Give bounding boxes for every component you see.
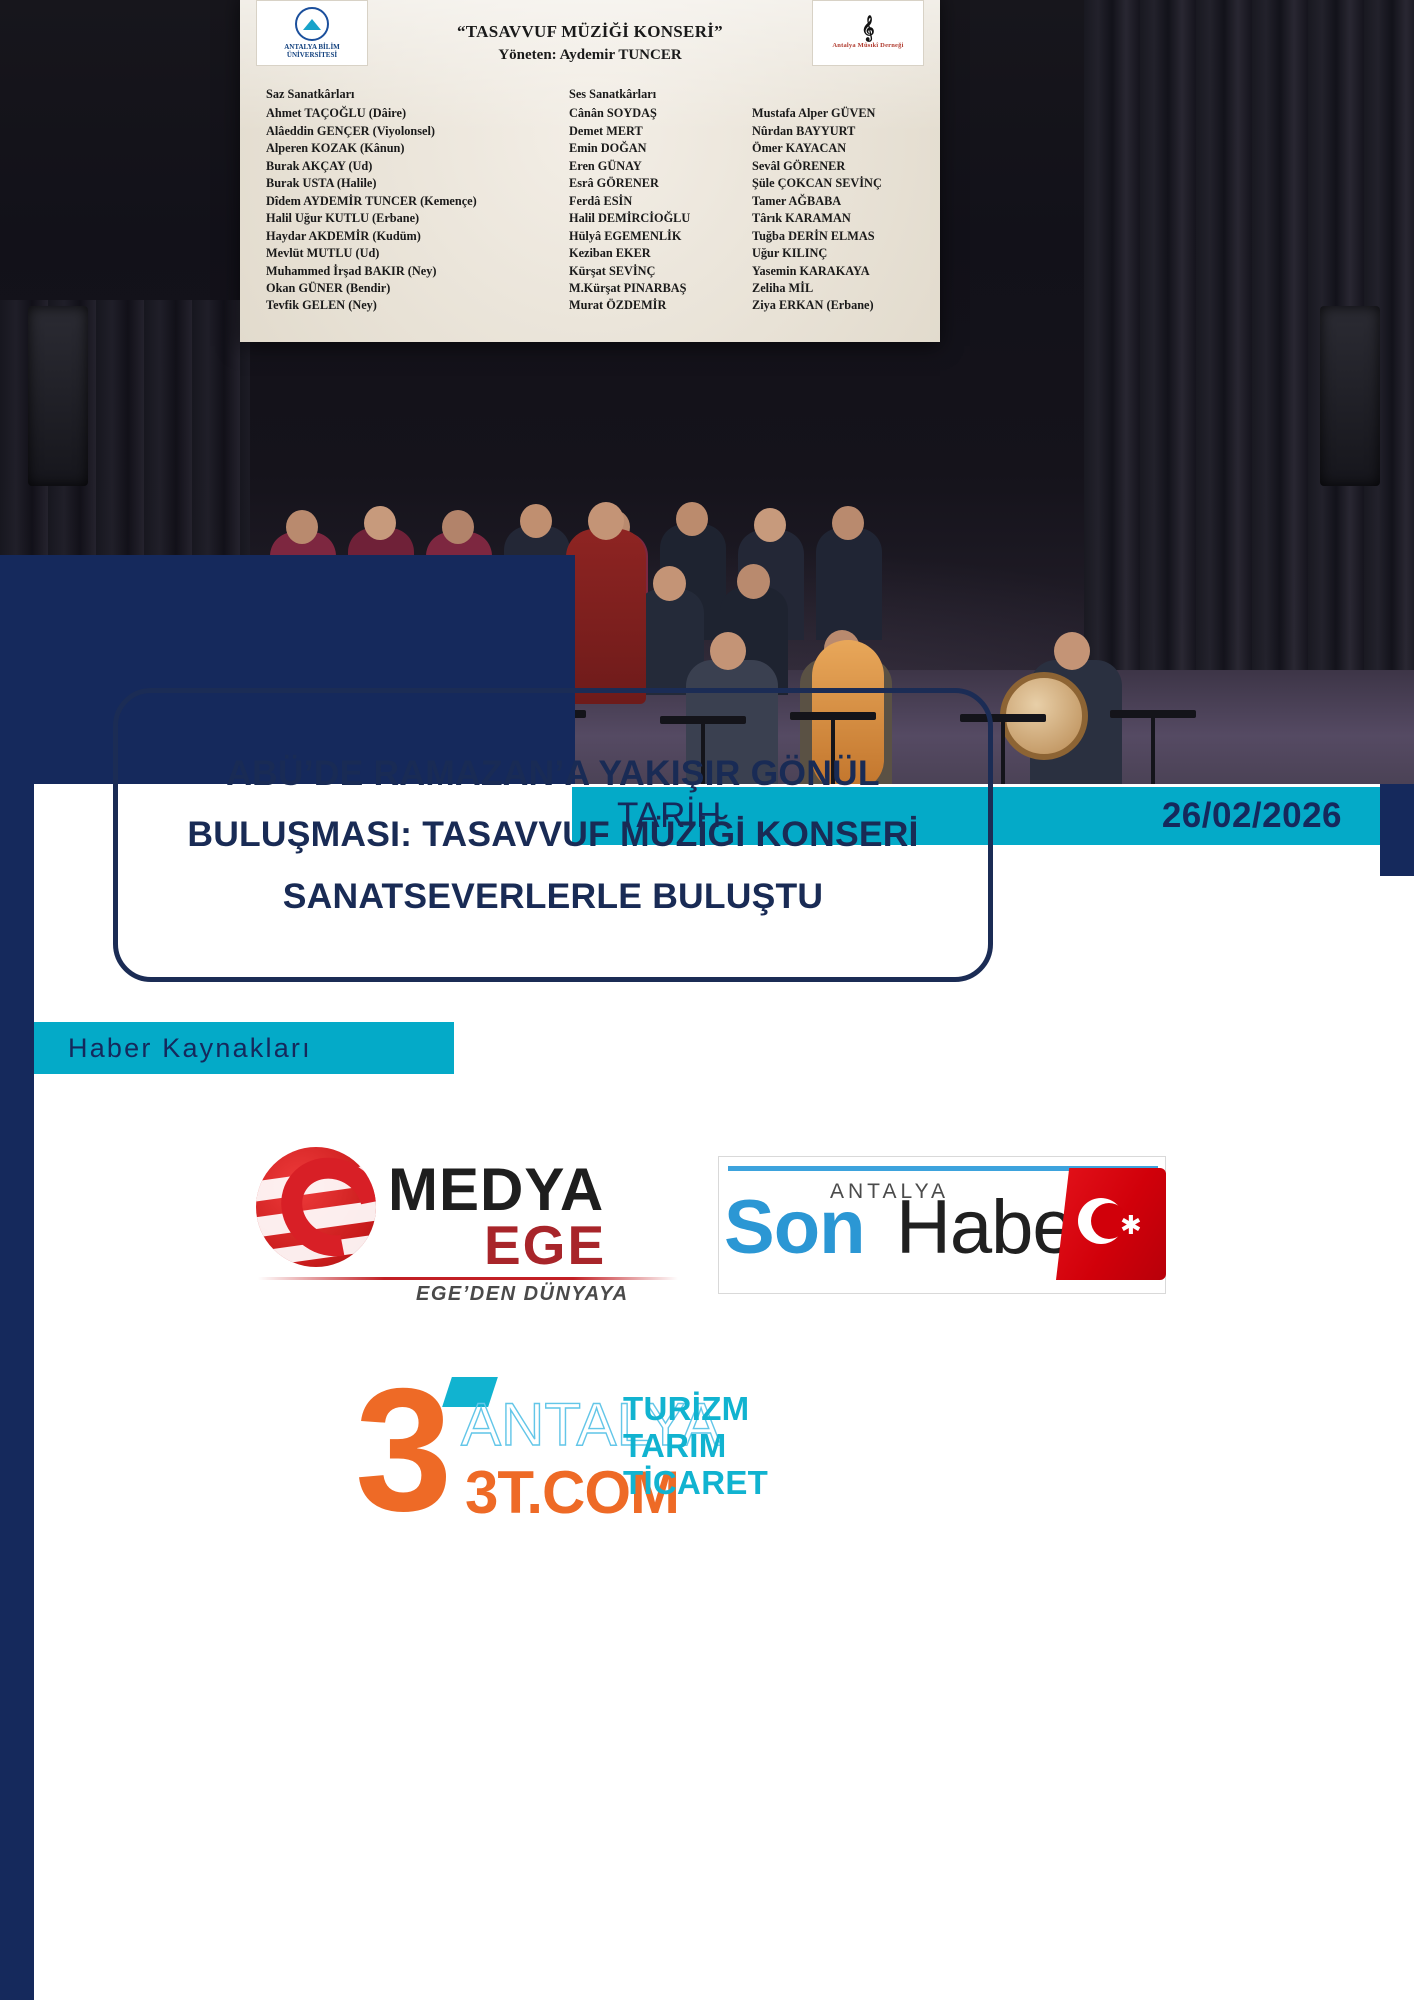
musiki-dernegi-label: Antalya Mûsıkî Derneği bbox=[832, 42, 903, 49]
logo-medya-ege[interactable]: MEDYA EGE EGE’DEN DÜNYAYA bbox=[248, 1133, 678, 1308]
logo-antalya-son-haber[interactable]: ANTALYA Son Haber ✱ bbox=[718, 1146, 1166, 1294]
performer-name: Dîdem AYDEMİR TUNCER (Kemençe) bbox=[266, 193, 551, 210]
three-t-keyword-2: TARIM bbox=[623, 1428, 768, 1465]
musiki-dernegi-logo: 𝄞 Antalya Mûsıkî Derneği bbox=[812, 0, 924, 66]
performer-name: Ferdâ ESİN bbox=[569, 193, 734, 210]
performer-name: Burak USTA (Halile) bbox=[266, 175, 551, 192]
conductor-head bbox=[588, 502, 624, 540]
headline-box: ABÜ’DE RAMAZAN’A YAKIŞIR GÖNÜL BULUŞMASI… bbox=[113, 688, 993, 982]
col1-header: Saz Sanatkârları bbox=[266, 86, 551, 103]
navy-right-edge bbox=[1380, 784, 1414, 876]
musician-head bbox=[710, 632, 746, 670]
date-value: 26/02/2026 bbox=[1162, 796, 1342, 836]
performer-name: Keziban EKER bbox=[569, 245, 734, 262]
conductor bbox=[566, 529, 646, 704]
abu-logo: ANTALYA BİLİM ÜNİVERSİTESİ bbox=[256, 0, 368, 66]
three-t-keywords: TURİZM TARIM TİCARET bbox=[623, 1391, 768, 1502]
performer-name: Uğur KILINÇ bbox=[752, 245, 932, 262]
performer-name: Alâeddin GENÇER (Viyolonsel) bbox=[266, 123, 551, 140]
performer-name: Târık KARAMAN bbox=[752, 210, 932, 227]
performer-name: Esrâ GÖRENER bbox=[569, 175, 734, 192]
music-stand bbox=[1110, 710, 1196, 718]
performer-name: Demet MERT bbox=[569, 123, 734, 140]
mountain-icon bbox=[295, 7, 329, 41]
sources-bar-label: Haber Kaynakları bbox=[68, 1033, 312, 1064]
performer-name: Nûrdan BAYYURT bbox=[752, 123, 932, 140]
performer-name: Mustafa Alper GÜVEN bbox=[752, 105, 932, 122]
headline-line-2: BULUŞMASI: TASAVVUF MÜZİĞİ KONSERİ bbox=[187, 817, 918, 853]
turkish-flag-icon: ✱ bbox=[1056, 1168, 1166, 1280]
performer-name: Cânân SOYDAŞ bbox=[569, 105, 734, 122]
abu-logo-line1: ANTALYA BİLİM bbox=[284, 43, 340, 51]
performer-name: Ömer KAYACAN bbox=[752, 140, 932, 157]
three-numeral: 3 bbox=[355, 1363, 452, 1538]
performer-name: Sevâl GÖRENER bbox=[752, 158, 932, 175]
navy-left-rail bbox=[0, 784, 34, 2000]
medya-ege-tagline: EGE’DEN DÜNYAYA bbox=[416, 1283, 629, 1306]
col2-header: Ses Sanatkârları bbox=[569, 86, 734, 103]
performer-name: Halil DEMİRCİOĞLU bbox=[569, 210, 734, 227]
medya-ege-word-sub: EGE bbox=[484, 1213, 606, 1277]
medya-ege-divider bbox=[258, 1277, 678, 1280]
performer-name: Alperen KOZAK (Kânun) bbox=[266, 140, 551, 157]
performer-name: Tuğba DERİN ELMAS bbox=[752, 228, 932, 245]
logo-antalya-3t[interactable]: 3 ANTALYA 3T.COM TURİZM TARIM TİCARET bbox=[355, 1355, 775, 1555]
performer-name: Ahmet TAÇOĞLU (Dâire) bbox=[266, 105, 551, 122]
three-t-keyword-1: TURİZM bbox=[623, 1391, 768, 1428]
performer-name: Hülyâ EGEMENLİK bbox=[569, 228, 734, 245]
globe-icon bbox=[256, 1147, 376, 1267]
son-haber-word-blue: Son bbox=[724, 1190, 865, 1266]
abu-logo-line2: ÜNİVERSİTESİ bbox=[287, 51, 337, 59]
three-t-keyword-3: TİCARET bbox=[623, 1465, 768, 1502]
performer-name: Mevlüt MUTLU (Ud) bbox=[266, 245, 551, 262]
performer-name: Burak AKÇAY (Ud) bbox=[266, 158, 551, 175]
musician-head bbox=[1054, 632, 1090, 670]
headline-line-3: SANATSEVERLERLE BULUŞTU bbox=[283, 879, 823, 915]
sources-bar: Haber Kaynakları bbox=[34, 1022, 454, 1074]
music-note-icon: 𝄞 bbox=[861, 17, 874, 39]
news-clipping-page: ANTALYA BİLİM ÜNİVERSİTESİ 𝄞 Antalya Mûs… bbox=[0, 0, 1414, 2000]
performer-name: Eren GÜNAY bbox=[569, 158, 734, 175]
headline-line-1: ABÜ’DE RAMAZAN’A YAKIŞIR GÖNÜL bbox=[226, 756, 880, 792]
performer-name: Haydar AKDEMİR (Kudüm) bbox=[266, 228, 551, 245]
performer-name: Şüle ÇOKCAN SEVİNÇ bbox=[752, 175, 932, 192]
performer-name: Halil Uğur KUTLU (Erbane) bbox=[266, 210, 551, 227]
source-logo-row: MEDYA EGE EGE’DEN DÜNYAYA ANTALYA Son Ha… bbox=[34, 1120, 1380, 1320]
performer-name: Tamer AĞBABA bbox=[752, 193, 932, 210]
performer-name: Emin DOĞAN bbox=[569, 140, 734, 157]
